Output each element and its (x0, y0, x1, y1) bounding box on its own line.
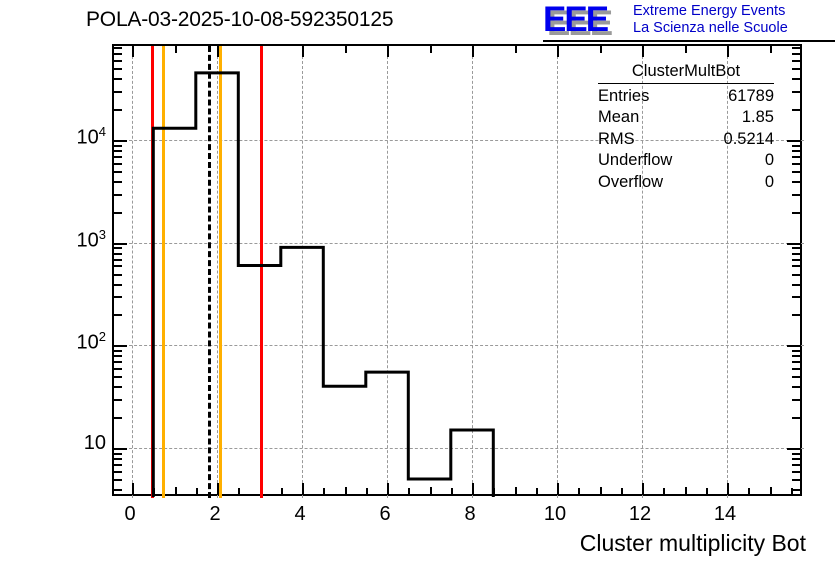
y-axis-tick-label: 103 (20, 227, 106, 253)
x-axis-tick-label: 4 (294, 503, 305, 526)
y-axis-tick-exponent: 4 (99, 124, 106, 139)
x-axis-tick-label: 2 (209, 503, 220, 526)
stats-label-underflow: Underflow (598, 151, 672, 170)
eee-logo-text: Extreme Energy Events La Scienza nelle S… (633, 3, 788, 37)
stats-row-overflow: Overflow 0 (598, 170, 774, 192)
stats-value-rms: 0.5214 (724, 130, 774, 149)
eee-logo: EEE EEE Extreme Energy Events La Scienza… (543, 2, 835, 42)
x-axis-title: Cluster multiplicity Bot (580, 530, 806, 557)
x-axis-tick-label: 12 (629, 503, 651, 526)
y-axis-tick-label: 104 (20, 124, 106, 150)
x-axis-tick-label: 10 (544, 503, 566, 526)
y-axis-tick-label: 10 (20, 432, 106, 455)
eee-logo-front: EEE (543, 3, 607, 37)
stats-row-underflow: Underflow 0 (598, 149, 774, 171)
y-axis-tick-base: 10 (77, 229, 99, 251)
stats-value-underflow: 0 (765, 151, 774, 170)
x-axis-tick-label: 0 (124, 503, 135, 526)
x-axis-tick-label: 6 (379, 503, 390, 526)
stats-value-entries: 61789 (728, 87, 774, 106)
stats-box: ClusterMultBot Entries 61789 Mean 1.85 R… (598, 62, 774, 192)
y-axis-tick-label: 102 (20, 329, 106, 355)
eee-logo-line2: La Scienza nelle Scuole (633, 20, 788, 37)
y-axis-tick-base: 10 (84, 432, 106, 454)
y-axis-tick-base: 10 (77, 332, 99, 354)
stats-row-mean: Mean 1.85 (598, 106, 774, 128)
stats-title: ClusterMultBot (598, 62, 774, 84)
histogram-outline (153, 73, 493, 497)
x-axis-tick-label: 14 (714, 503, 736, 526)
stats-label-mean: Mean (598, 108, 639, 127)
header-divider (543, 40, 835, 42)
stats-value-overflow: 0 (765, 173, 774, 192)
y-axis-tick-exponent: 3 (99, 227, 106, 242)
y-axis-tick-base: 10 (77, 127, 99, 149)
stats-label-rms: RMS (598, 130, 635, 149)
stats-row-entries: Entries 61789 (598, 84, 774, 106)
stats-label-entries: Entries (598, 87, 649, 106)
eee-logo-mark: EEE EEE (543, 3, 628, 37)
stats-label-overflow: Overflow (598, 173, 663, 192)
root-canvas: POLA-03-2025-10-08-592350125 EEE EEE Ext… (0, 0, 836, 572)
stats-value-mean: 1.85 (742, 108, 774, 127)
stats-row-rms: RMS 0.5214 (598, 127, 774, 149)
x-axis-tick-label: 8 (464, 503, 475, 526)
page-title: POLA-03-2025-10-08-592350125 (86, 8, 393, 32)
y-axis-tick-exponent: 2 (99, 329, 106, 344)
eee-logo-line1: Extreme Energy Events (633, 3, 788, 20)
